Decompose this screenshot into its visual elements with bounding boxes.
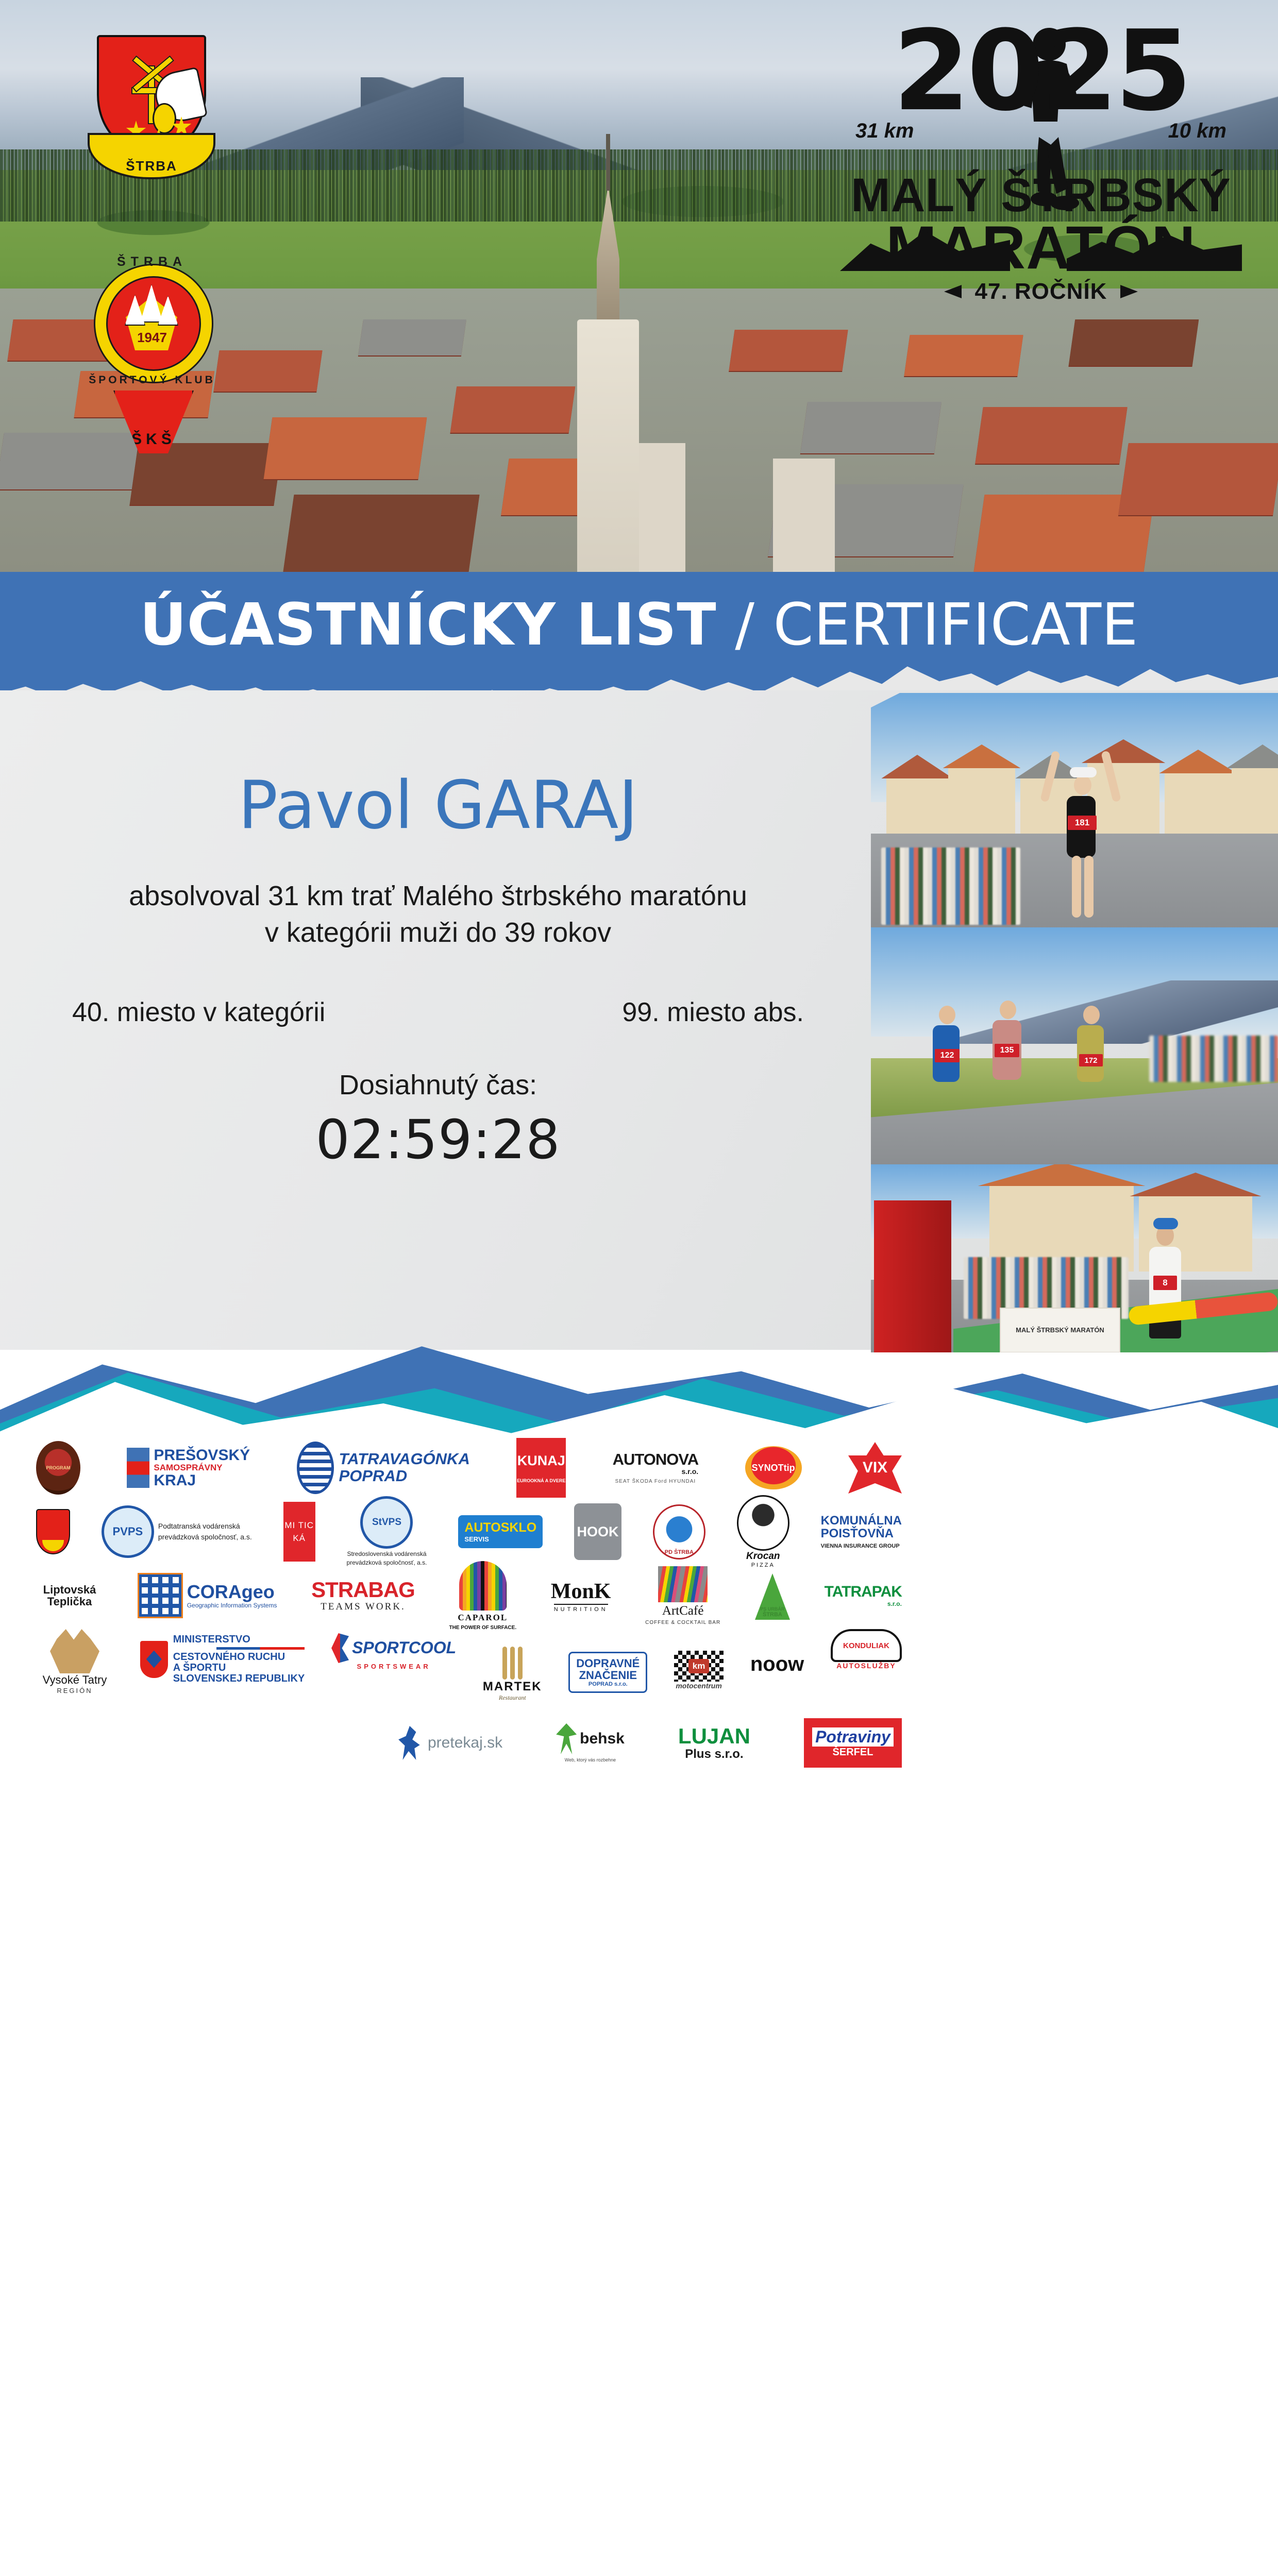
sponsor-autosklo[interactable]: AUTOSKLO SERVIS xyxy=(458,1515,543,1548)
sponsor-stvps[interactable]: StVPS Stredoslovenská vodárenská prevádz… xyxy=(347,1496,427,1567)
car-icon: KONDULIAK xyxy=(831,1629,902,1662)
sponsor-noow[interactable]: noow xyxy=(750,1653,804,1676)
race-bib-number: 8 xyxy=(1153,1276,1177,1290)
sponsor-line-3: POPRAD s.r.o. xyxy=(588,1681,628,1687)
sponsor-line-2: TEAMS WORK. xyxy=(321,1601,406,1613)
strba-coat-of-arms: ŠTRBA xyxy=(88,21,211,175)
sponsor-line-2: COFFEE & COCKTAIL BAR xyxy=(645,1620,720,1625)
sponsor-row-5: pretekaj.sk behsk Web, ktorý vás rozbehn… xyxy=(36,1709,902,1776)
club-banner-tail: ŠKŠ xyxy=(113,391,194,453)
sponsor-line-2: Stredoslovenská vodárenská xyxy=(347,1550,427,1558)
page-title-rest: / CERTIFICATE xyxy=(716,591,1138,658)
chamois-icon xyxy=(50,1629,99,1673)
caparol-elephant-icon xyxy=(459,1561,507,1611)
sponsor-logo-mark: HOOK xyxy=(577,1524,619,1540)
sponsor-line-2: Geographic Information Systems xyxy=(187,1602,277,1609)
certificate-title-band: ÚČASTNÍCKY LIST / CERTIFICATE xyxy=(0,572,1278,690)
sponsor-line-2: s.r.o. xyxy=(887,1600,902,1607)
sponsor-miticka[interactable]: MI TIC KÁ xyxy=(283,1502,315,1562)
sponsor-line-2: Podtatranská vodárenská xyxy=(158,1521,252,1532)
photo-finish-line: MALÝ ŠTRBSKÝ MARATÓN 8 xyxy=(871,1164,1278,1352)
sponsor-line-1: CORAgeo xyxy=(187,1582,277,1602)
club-top-label: ŠTRBA xyxy=(82,255,222,269)
sponsor-line-1: behsk xyxy=(580,1731,625,1747)
sponsor-line-3: prevádzková spoločnosť, a.s. xyxy=(158,1532,252,1543)
church-building xyxy=(577,319,639,572)
photo-runner-c-head xyxy=(1083,1006,1100,1024)
sponsor-line-2: SERVIS xyxy=(464,1535,489,1543)
sponsor-line-2: THE POWER OF SURFACE. xyxy=(449,1625,517,1631)
distance-10km: 10 km xyxy=(1168,120,1226,143)
sponsor-line-1: Vysoké Tatry xyxy=(43,1673,107,1687)
photo-runner-leg-left xyxy=(1072,856,1081,918)
participant-name: Pavol GARAJ xyxy=(0,773,876,839)
sponsor-konduliak[interactable]: KONDULIAK AUTOSLUŽBY xyxy=(831,1629,902,1670)
sponsor-line-2: NUTRITION xyxy=(554,1604,608,1613)
sponsor-logo-mark: VIX xyxy=(848,1442,902,1494)
slovak-cross-icon xyxy=(146,1651,162,1668)
sponsor-line-1: CAPAROL xyxy=(458,1613,508,1623)
sponsor-line-1: PS URBÁR xyxy=(760,1606,784,1612)
sponsor-line-2: AUTOSLUŽBY xyxy=(836,1662,896,1670)
sponsor-logo-mark: StVPS xyxy=(360,1496,413,1549)
sponsor-line-1: MARTEK xyxy=(483,1680,542,1694)
coat-of-arms-ribbon: ŠTRBA xyxy=(88,133,215,179)
photo-mountains xyxy=(871,980,1278,1043)
separator-blue-peaks xyxy=(0,1340,1278,1453)
sponsor-line-2: EUROOKNÁ A DVERE xyxy=(517,1478,565,1483)
footer: PROGRAM PREŠOVSKÝ SAMOSPRÁVNY KRAJ TATRA… xyxy=(0,1437,1278,1807)
sponsor-caparol[interactable]: CAPAROL THE POWER OF SURFACE. xyxy=(449,1561,517,1631)
photo-collage: 181 122 135 172 MALÝ ŠTRBSKÝ MARATÓN 8 xyxy=(871,693,1278,1352)
sponsor-tatrapak[interactable]: TATRAPAK s.r.o. xyxy=(825,1584,902,1607)
sponsor-logo-mark: SYNOTtip xyxy=(745,1446,802,1489)
sponsor-potraviny-serfel[interactable]: Potraviny ŠERFEL xyxy=(804,1718,902,1768)
finish-line-banner: MALÝ ŠTRBSKÝ MARATÓN xyxy=(1000,1308,1120,1352)
sponsor-strabag[interactable]: STRABAG TEAMS WORK. xyxy=(311,1579,415,1613)
artcafe-icon xyxy=(658,1566,708,1602)
sponsor-tatravagonka[interactable]: TATRAVAGÓNKA POPRAD xyxy=(297,1442,470,1494)
sponsor-autonova[interactable]: AUTONOVA s.r.o. SEAT ŠKODA Ford HYUNDAI xyxy=(613,1451,699,1484)
distance-31km: 31 km xyxy=(855,120,914,143)
sponsor-line-2: Restaurant xyxy=(499,1694,526,1702)
sponsor-line-2: s.r.o. xyxy=(682,1468,699,1476)
category-place: 40. miesto v kategórii xyxy=(72,997,325,1028)
sponsor-artcafe[interactable]: ArtCafé COFFEE & COCKTAIL BAR xyxy=(645,1566,720,1625)
event-year: 2025 xyxy=(835,26,1247,116)
photo-finisher-female: 181 xyxy=(871,693,1278,935)
finish-time-label: Dosiahnutý čas: xyxy=(0,1069,876,1101)
sponsor-line-1: Krocan xyxy=(746,1551,780,1562)
inflatable-arch xyxy=(874,1200,951,1352)
sponsor-km-motocentrum[interactable]: km motocentrum xyxy=(674,1651,724,1690)
absolute-place: 99. miesto abs. xyxy=(622,997,804,1028)
sponsor-line-2: Plus s.r.o. xyxy=(685,1748,743,1760)
race-bib-number: 181 xyxy=(1068,816,1097,830)
photo-distant-runners xyxy=(1149,1036,1278,1082)
sponsor-line-3: SEAT ŠKODA Ford HYUNDAI xyxy=(615,1479,696,1484)
photo-runner-leg-right xyxy=(1084,856,1094,918)
sponsor-line-2: PIZZA xyxy=(751,1562,775,1568)
sponsor-line-1: DOPRAVNÉ xyxy=(576,1657,640,1669)
sponsor-vysoke-tatry[interactable]: Vysoké Tatry REGIÓN xyxy=(36,1629,113,1694)
sponsor-line-1: Potraviny xyxy=(812,1727,894,1747)
race-bib-number: 172 xyxy=(1079,1054,1103,1066)
description-line-1: absolvoval 31 km trať Malého štrbského m… xyxy=(0,878,876,914)
sponsor-line-1: LUJAN xyxy=(678,1725,750,1748)
sponsor-logo-mark: noow xyxy=(750,1653,804,1676)
sponsor-line-3: VIENNA INSURANCE GROUP xyxy=(821,1543,900,1549)
sponsor-sportcool[interactable]: SPORTCOOL SPORTSWEAR xyxy=(331,1633,456,1670)
sponsor-vix[interactable]: VIX xyxy=(848,1442,902,1494)
sponsor-line-1: Liptovská xyxy=(43,1584,96,1596)
sponsor-line-1: MINISTERSTVO xyxy=(173,1634,305,1645)
sponsor-line-2: SPORTSWEAR xyxy=(357,1663,431,1670)
sponsor-line-3: KRAJ xyxy=(154,1472,250,1489)
sponsor-line-2: REGIÓN xyxy=(57,1687,92,1694)
sponsor-line-1: pretekaj.sk xyxy=(428,1734,502,1752)
sponsor-ps-urbar-strba[interactable]: PS URBÁR ŠTRBA xyxy=(755,1573,790,1618)
sponsor-logo-mark: PVPS xyxy=(102,1505,154,1558)
page-title: ÚČASTNÍCKY LIST / CERTIFICATE xyxy=(0,591,1278,658)
church-spire xyxy=(606,134,610,191)
sponsor-synot-tip[interactable]: SYNOTtip xyxy=(745,1446,802,1489)
placement-row: 40. miesto v kategórii 99. miesto abs. xyxy=(0,997,876,1028)
hero-photo-banner: ŠTART ŠTRBA ŠTRBA 1947 xyxy=(0,0,1278,572)
club-abbrev: ŠKŠ xyxy=(131,431,176,453)
cuff-icon xyxy=(153,103,176,134)
photo-runner-head xyxy=(1074,775,1091,795)
sponsor-line-2: Web, ktorý vás rozbehne xyxy=(565,1757,616,1762)
sponsor-line-1: AUTOSKLO xyxy=(464,1520,536,1535)
sponsor-monk[interactable]: MonK NUTRITION xyxy=(551,1579,611,1613)
coat-of-arms-label: ŠTRBA xyxy=(126,158,177,177)
sponsor-line-1: km xyxy=(688,1659,710,1673)
photo-runners-road: 122 135 172 xyxy=(871,927,1278,1170)
sponsor-dopravne-znacenie[interactable]: DOPRAVNÉ ZNAČENIE POPRAD s.r.o. xyxy=(568,1652,647,1693)
checkered-flag-icon: km xyxy=(674,1651,724,1682)
sponsor-row-1: PROGRAM PREŠOVSKÝ SAMOSPRÁVNY KRAJ TATRA… xyxy=(36,1437,902,1498)
sponsor-line-1: SPORTCOOL xyxy=(352,1639,456,1657)
sponsor-pretekaj[interactable]: pretekaj.sk xyxy=(397,1726,502,1760)
certificate-description: absolvoval 31 km trať Malého štrbského m… xyxy=(0,878,876,952)
sponsor-line-2: motocentrum xyxy=(676,1682,721,1690)
corageo-icon xyxy=(138,1573,183,1618)
sportcool-icon xyxy=(331,1633,349,1663)
sponsor-line-2: POPRAD xyxy=(339,1468,470,1485)
sponsor-line-1: TATRAVAGÓNKA xyxy=(339,1451,470,1468)
sponsor-martek[interactable]: MARTEK Restaurant xyxy=(483,1647,542,1702)
club-bottom-label: ŠPORTOVÝ KLUB xyxy=(82,374,222,386)
photo-runner-a-head xyxy=(939,1006,955,1024)
sponsor-kunaj[interactable]: KUNAJ EUROOKNÁ A DVERE xyxy=(516,1438,566,1498)
sponsor-hook[interactable]: HOOK xyxy=(574,1503,621,1560)
sponsor-program-trencin[interactable]: PROGRAM xyxy=(36,1441,80,1495)
turkey-icon xyxy=(737,1495,789,1551)
sponsor-line-2: POISŤOVŇA xyxy=(821,1527,894,1540)
sponsor-ministerstvo[interactable]: MINISTERSTVO CESTOVNÉHO RUCHU A ŠPORTU S… xyxy=(140,1634,305,1684)
certificate-text-block: Pavol GARAJ absolvoval 31 km trať Malého… xyxy=(0,773,876,1171)
sponsor-corageo[interactable]: CORAgeo Geographic Information Systems xyxy=(138,1573,277,1618)
sponsor-pd-strba[interactable]: PD ŠTRBA xyxy=(653,1504,705,1560)
club-founding-year: 1947 xyxy=(82,330,222,346)
sponsor-line-1: MI TIC KÁ xyxy=(283,1519,315,1545)
runner-icon xyxy=(397,1726,424,1760)
sponsor-liptovska-teplicka[interactable] xyxy=(36,1509,70,1554)
region-flag-icon xyxy=(127,1448,149,1488)
sponsor-behsk[interactable]: behsk Web, ktorý vás rozbehne xyxy=(556,1723,625,1762)
sponsor-line-1: MonK xyxy=(551,1579,611,1604)
sponsor-row-2: PVPS Podtatranská vodárenská prevádzková… xyxy=(36,1501,902,1562)
sponsor-logo-mark: PD ŠTRBA xyxy=(653,1504,705,1560)
sport-club-logo: ŠTRBA 1947 ŠPORTOVÝ KLUB ŠKŠ xyxy=(82,252,222,459)
sponsor-pvps[interactable]: PVPS Podtatranská vodárenská prevádzková… xyxy=(102,1505,252,1558)
description-line-2: v kategórii muži do 39 rokov xyxy=(0,914,876,951)
cutlery-icon xyxy=(502,1647,523,1680)
sponsor-line-2: Teplička xyxy=(47,1596,92,1607)
sponsor-row-4: Vysoké Tatry REGIÓN MINISTERSTVO CESTOVN… xyxy=(36,1629,902,1706)
sponsor-presovsky-kraj[interactable]: PREŠOVSKÝ SAMOSPRÁVNY KRAJ xyxy=(127,1447,250,1489)
sponsor-line-1: KUNAJ xyxy=(517,1453,565,1469)
sponsor-line-2: ŠTRBA xyxy=(763,1612,782,1618)
sponsor-line-1: AUTONOVA xyxy=(613,1451,699,1468)
sponsor-line-2: CESTOVNÉHO RUCHU xyxy=(173,1652,305,1663)
photo-runner-b-head xyxy=(1000,1001,1016,1019)
event-edition: 47. ROČNÍK xyxy=(975,279,1107,304)
sponsor-line-3: prevádzková spoločnosť, a.s. xyxy=(347,1558,427,1567)
runner-icon xyxy=(556,1723,577,1754)
sponsor-line-1: KOMUNÁLNA xyxy=(821,1514,902,1527)
sponsor-line-3: A ŠPORTU xyxy=(173,1663,305,1673)
page-title-bold: ÚČASTNÍCKY LIST xyxy=(140,591,716,658)
event-logo-block: 2025 31 km 10 km MALÝ ŠTRBSKÝ MARATÓN 47… xyxy=(835,26,1247,304)
photo-spectators xyxy=(881,848,1020,925)
triangle-left-icon xyxy=(944,285,962,298)
sponsor-line-2: SAMOSPRÁVNY xyxy=(154,1463,250,1472)
sponsor-line-2: ZNAČENIE xyxy=(579,1669,637,1681)
sponsor-row-3: Liptovská Teplička CORAgeo Geographic In… xyxy=(36,1565,902,1626)
sponsor-logo-mark: PROGRAM xyxy=(36,1441,80,1495)
photo-winner-headband xyxy=(1153,1218,1178,1229)
photo-runner-cap xyxy=(1070,767,1097,777)
race-bib-number: 122 xyxy=(935,1049,960,1062)
sponsor-line-4: SLOVENSKEJ REPUBLIKY xyxy=(173,1673,305,1684)
sponsor-line-1: STRABAG xyxy=(311,1579,415,1601)
sponsor-logos: PROGRAM PREŠOVSKÝ SAMOSPRÁVNY KRAJ TATRA… xyxy=(36,1437,902,1780)
event-edition-row: 47. ROČNÍK xyxy=(835,279,1247,304)
sponsor-liptovska-teplicka-label[interactable]: Liptovská Teplička xyxy=(36,1584,103,1607)
finish-time-value: 02:59:28 xyxy=(0,1108,876,1171)
sponsor-lujan[interactable]: LUJAN Plus s.r.o. xyxy=(678,1725,750,1760)
municipal-shield-icon xyxy=(36,1509,70,1554)
sponsor-line-2: ŠERFEL xyxy=(833,1747,873,1758)
photo-runner-c xyxy=(1077,1025,1104,1082)
tatravagonka-icon xyxy=(297,1442,334,1494)
sponsor-line-1: ArtCafé xyxy=(662,1604,704,1618)
sponsor-krocan-pizza[interactable]: Krocan PIZZA xyxy=(737,1495,789,1568)
sponsor-line-1: KONDULIAK xyxy=(843,1641,889,1650)
sponsor-line-1: TATRAPAK xyxy=(825,1584,902,1600)
race-bib-number: 135 xyxy=(995,1044,1019,1057)
triangle-right-icon xyxy=(1120,285,1138,298)
sponsor-line-1: PREŠOVSKÝ xyxy=(154,1447,250,1464)
sponsor-komunalna-poistovna[interactable]: KOMUNÁLNA POISŤOVŇA VIENNA INSURANCE GRO… xyxy=(821,1514,902,1549)
